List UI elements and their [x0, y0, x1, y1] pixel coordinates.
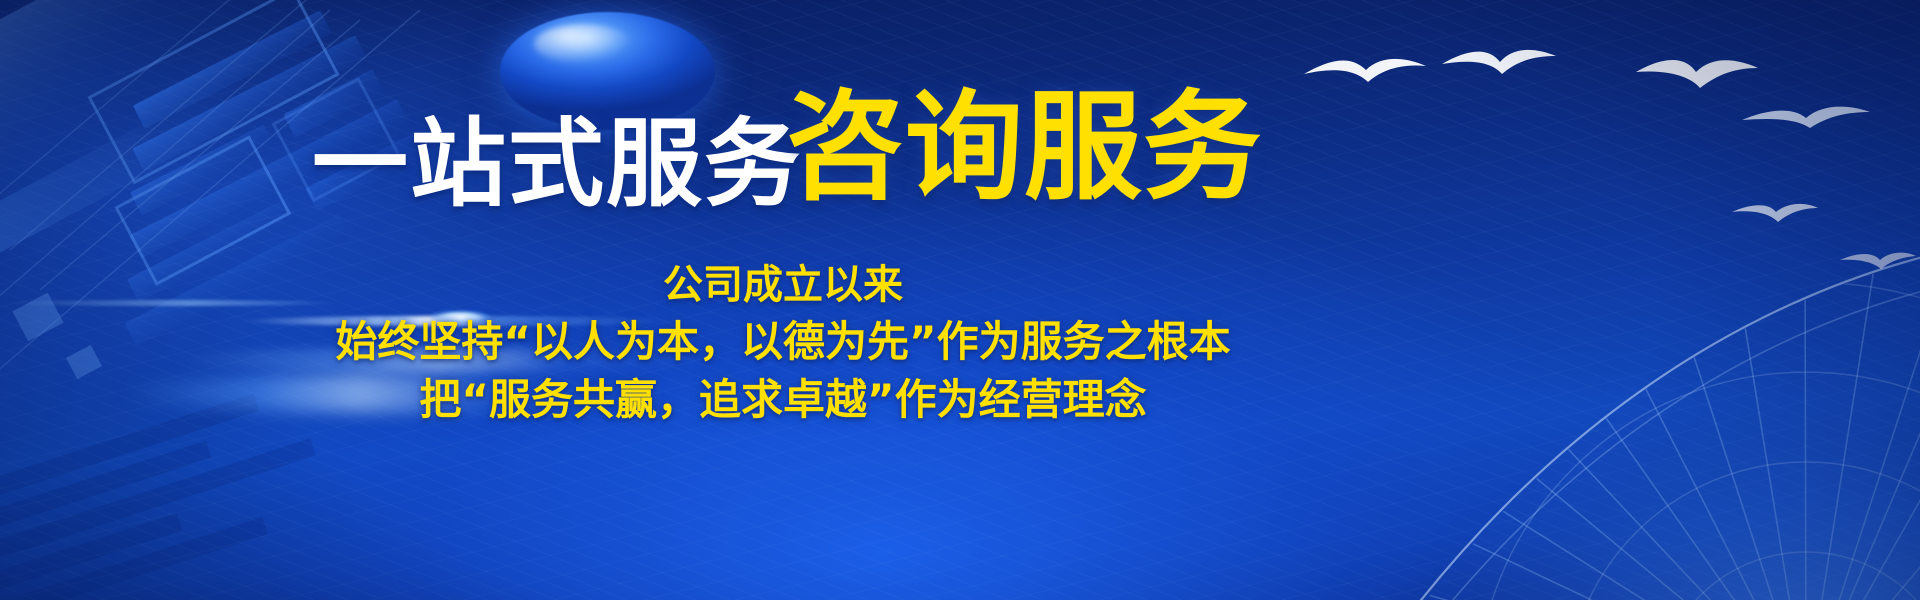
subtitle-block: 公司成立以来 始终坚持“以人为本，以德为先”作为服务之根本 把“服务共赢，追求卓… [0, 258, 1566, 429]
headline-group: 一站式服务 咨询服务 [0, 88, 1920, 212]
subtitle-line-1: 公司成立以来 [0, 258, 1566, 313]
subtitle-line-2: 始终坚持“以人为本，以德为先”作为服务之根本 [0, 313, 1566, 371]
headline-primary: 一站式服务 [312, 116, 802, 212]
promotional-banner: 一站式服务 咨询服务 公司成立以来 始终坚持“以人为本，以德为先”作为服务之根本… [0, 0, 1920, 600]
seagull-2 [1440, 42, 1558, 90]
subtitle-line-3: 把“服务共赢，追求卓越”作为经营理念 [0, 371, 1566, 429]
seagull-6 [1838, 248, 1918, 280]
headline-accent: 咨询服务 [786, 88, 1262, 206]
